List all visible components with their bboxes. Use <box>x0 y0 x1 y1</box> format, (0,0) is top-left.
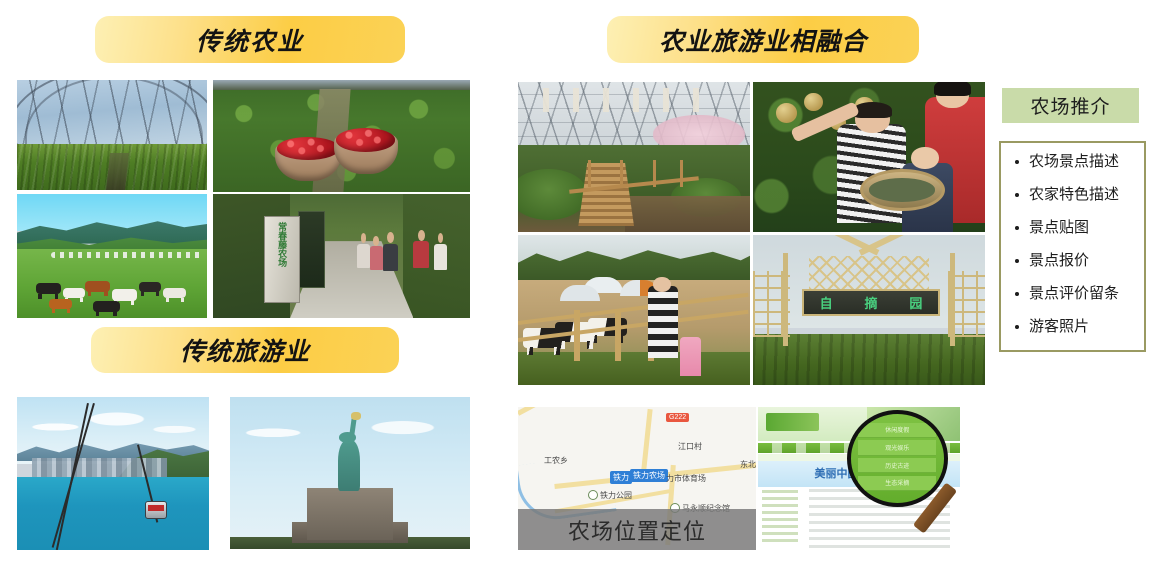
website-sidebar-line <box>762 518 798 521</box>
bamboogate-sign-char-2: 摘 <box>864 293 877 312</box>
farm-name-sign-text: 常春藤农场 <box>277 222 287 267</box>
statue-of-liberty-photo <box>230 397 470 549</box>
cowvisit-visitor-man-head <box>653 277 672 292</box>
list-item[interactable]: 游客照片 <box>1015 318 1144 336</box>
liberty-torch <box>351 412 361 420</box>
walkway-post-2 <box>620 160 623 187</box>
cowvisit-fence-rail-bottom <box>518 310 749 342</box>
website-sidebar-line <box>762 490 798 493</box>
farm-location-map-photo: 工农乡 江口村 G222 铁力 铁力农场 力市体育场 铁力公园 马永顺纪念馆 东… <box>518 407 756 550</box>
picking-bamboo-basket <box>860 169 945 211</box>
banner-fusion-label: 农业旅游业相融合 <box>659 22 867 58</box>
cow-6 <box>163 288 186 298</box>
cowvisit-fence-post-2 <box>615 310 621 361</box>
cow-2 <box>63 288 86 298</box>
walkway-hanging-lanterns <box>527 88 703 112</box>
map-caption-bar: 农场位置定位 <box>518 509 756 550</box>
strawberry-basket-right <box>334 129 398 174</box>
website-sidebar <box>762 490 802 547</box>
picking-girl-head <box>911 147 939 170</box>
gate-person-3 <box>383 244 398 271</box>
gate-person-5 <box>434 244 447 270</box>
gate-person-4 <box>413 241 428 268</box>
map-label-stadium: 力市体育场 <box>666 473 706 484</box>
website-sidebar-line <box>762 511 798 514</box>
walkway-post-4 <box>680 160 683 187</box>
map-label-tieli-park: 铁力公园 <box>600 490 632 501</box>
map-caption-text: 农场位置定位 <box>568 514 706 546</box>
bamboogate-column-right <box>950 253 955 346</box>
bamboogate-sign-char-1: 自 <box>820 293 833 312</box>
picking-fruit-1 <box>776 103 797 123</box>
bamboo-gate-photo: 自 摘 园 <box>753 235 985 385</box>
website-sidebar-line <box>762 504 798 507</box>
gate-sign-pillar: 常春藤农场 <box>264 216 299 302</box>
website-article-line <box>809 537 951 540</box>
website-article-line <box>809 529 951 532</box>
gate-person-1 <box>357 244 370 269</box>
cowvisit-fence <box>518 313 750 358</box>
gate-person-2 <box>370 246 383 270</box>
liberty-body <box>338 440 360 492</box>
map-road-badge-g222: G222 <box>666 413 689 422</box>
website-sidebar-line <box>762 525 798 528</box>
map-tag-tieli-farm: 铁力农场 <box>630 469 668 482</box>
list-item[interactable]: 景点评价留条 <box>1015 285 1144 303</box>
magnifier-menu-item-3: 历史古迹 <box>858 458 936 473</box>
cablecar-sea <box>17 477 209 550</box>
walkway-post-3 <box>653 160 656 187</box>
cow-4 <box>112 289 137 300</box>
magnifier-menu-item-1: 休闲度假 <box>858 423 936 438</box>
cattle-pasture-photo <box>17 194 207 318</box>
cable-car-bay-photo <box>17 397 209 550</box>
map-label-jiangkoucun: 江口村 <box>678 441 702 452</box>
website-sidebar-line <box>762 497 798 500</box>
cow-1 <box>36 283 61 294</box>
map-label-dongbei: 东北 <box>740 459 756 470</box>
strawberry-berries-right <box>336 128 395 151</box>
farm-recommendation-list-box: 农场景点描述 农家特色描述 景点贴图 景点报价 景点评价留条 游客照片 <box>999 141 1146 352</box>
list-item[interactable]: 农家特色描述 <box>1015 186 1144 204</box>
list-item[interactable]: 农场景点描述 <box>1015 153 1144 171</box>
strawberry-berries-left <box>277 137 338 159</box>
bamboogate-sign: 自 摘 园 <box>802 289 941 316</box>
magnifier-menu-item-2: 观光娱乐 <box>858 440 936 455</box>
banner-traditional-agriculture-label: 传统农业 <box>196 22 304 58</box>
farm-recommendation-header-label: 农场推介 <box>1030 92 1110 119</box>
cows-visitors-fence-photo <box>518 235 750 385</box>
gate-dark-board <box>298 211 326 287</box>
website-sidebar-line <box>762 532 798 535</box>
list-item[interactable]: 景点贴图 <box>1015 219 1144 237</box>
rural-tourism-website-photo: 美丽中国乡村行 休闲度假 观光娱乐 历史古迹 生态采摘 <box>758 407 960 550</box>
cowvisit-visitor-man <box>648 286 678 358</box>
fruit-picking-children-photo <box>753 82 985 232</box>
cablecar-clouds <box>17 403 209 443</box>
farm-gate-visitors-photo: 常春藤农场 <box>213 194 470 318</box>
map-tag-tieli: 铁力 <box>610 471 632 484</box>
bamboogate-sign-char-3: 园 <box>909 293 922 312</box>
banner-fusion[interactable]: 农业旅游业相融合 <box>607 16 919 63</box>
greenhouse-walkway-photo <box>518 82 750 232</box>
farm-recommendation-header: 农场推介 <box>1002 88 1139 123</box>
greenhouse-tunnel-photo <box>17 80 207 190</box>
cowvisit-fence-post-1 <box>574 310 580 361</box>
cow-5 <box>139 282 162 292</box>
pasture-distant-herd <box>51 252 203 258</box>
banner-traditional-agriculture[interactable]: 传统农业 <box>95 16 405 63</box>
cow-3 <box>85 281 110 292</box>
bamboogate-column-left <box>783 253 788 346</box>
slide-canvas: 传统农业 农业旅游业相融合 传统旅游业 <box>0 0 1156 570</box>
cow-7 <box>93 301 120 312</box>
bamboogate-lattice <box>809 256 930 289</box>
website-logo <box>766 413 819 432</box>
banner-traditional-tourism-label: 传统旅游业 <box>180 332 310 368</box>
map-label-gongnongxiang: 工农乡 <box>544 455 568 466</box>
magnifier-lens: 休闲度假 观光娱乐 历史古迹 生态采摘 <box>847 410 948 507</box>
cowvisit-child-pink-dress <box>680 337 701 376</box>
farm-recommendation-list: 农场景点描述 农家特色描述 景点贴图 景点报价 景点评价留条 游客照片 <box>1001 153 1144 336</box>
list-item[interactable]: 景点报价 <box>1015 252 1144 270</box>
banner-traditional-tourism[interactable]: 传统旅游业 <box>91 327 399 373</box>
cable-car-cabin <box>145 501 167 519</box>
picking-fruit-2 <box>804 93 823 111</box>
liberty-pedestal <box>307 488 393 540</box>
strawberry-field-baskets-photo <box>213 80 470 192</box>
website-article-line <box>809 545 951 548</box>
picking-boy-hair <box>853 102 892 119</box>
strawberry-basket-left <box>275 138 342 181</box>
website-sidebar-line <box>762 539 798 542</box>
walkway-post-1 <box>588 160 591 187</box>
walkway-pond <box>625 196 750 232</box>
magnifier-menu-item-4: 生态采摘 <box>858 476 936 491</box>
cow-8 <box>49 299 72 309</box>
picking-adult-hair <box>934 82 971 96</box>
map-poi-tieli-park <box>588 490 598 500</box>
